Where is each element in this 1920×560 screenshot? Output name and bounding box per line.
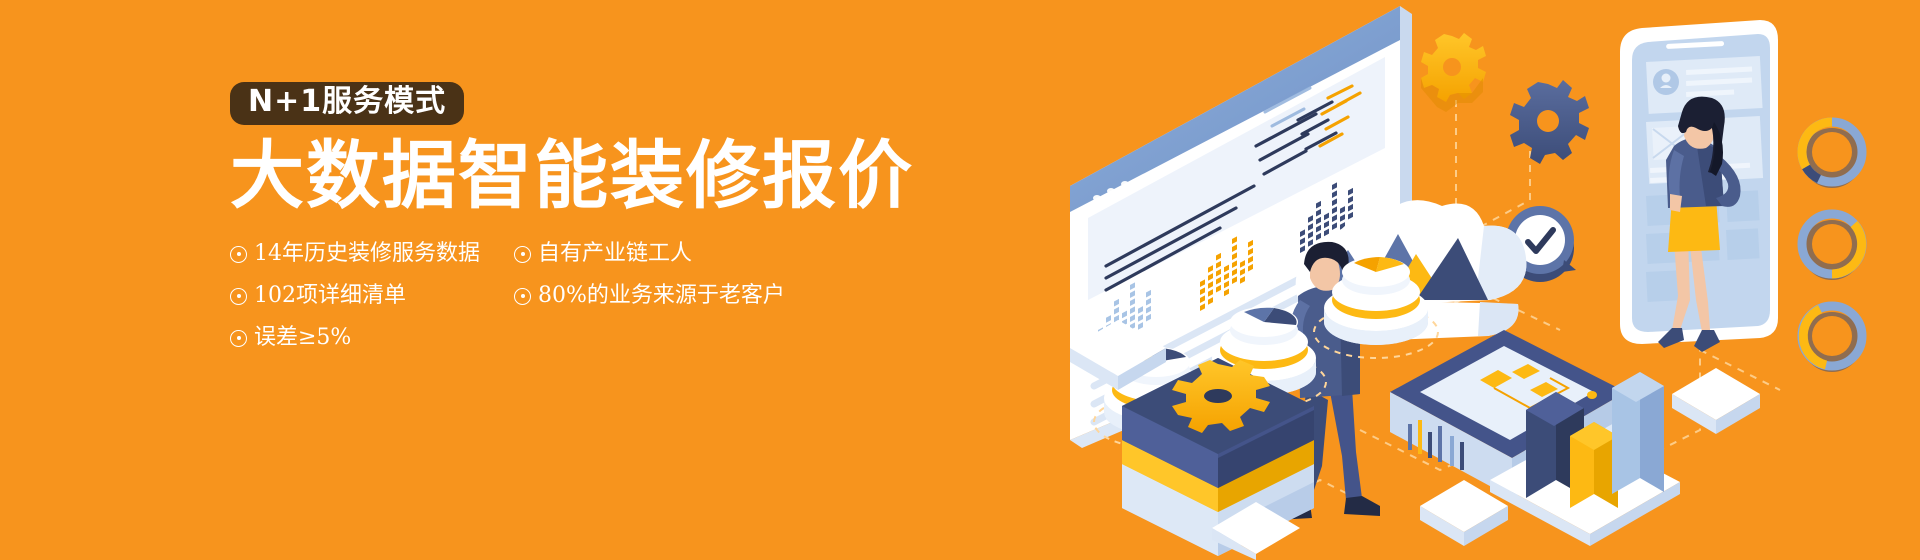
list-item: 102项详细清单 [230, 285, 480, 307]
circled-dot-icon [514, 246, 531, 263]
ring-charts [1802, 122, 1862, 372]
feature-column-right: 自有产业链工人 80%的业务来源于老客户 [514, 243, 785, 369]
bar-3 [1612, 372, 1664, 494]
list-item: 14年历史装修服务数据 [230, 243, 480, 265]
list-item-label: 80%的业务来源于老客户 [538, 285, 785, 307]
circled-dot-icon [230, 246, 247, 263]
page-title: 大数据智能装修报价 [230, 139, 950, 213]
service-mode-badge: N+1服务模式 [230, 82, 464, 125]
feature-list: 14年历史装修服务数据 102项详细清单 误差≥5% 自有产业链工人 [230, 243, 950, 369]
list-item: 80%的业务来源于老客户 [514, 285, 785, 307]
circled-dot-icon [230, 288, 247, 305]
list-item: 误差≥5% [230, 327, 480, 349]
copy-block: N+1服务模式 大数据智能装修报价 14年历史装修服务数据 102项详细清单 误… [230, 82, 950, 369]
gear-navy [1510, 80, 1589, 175]
circled-dot-icon [230, 330, 247, 347]
circled-dot-icon [514, 288, 531, 305]
promo-banner: N+1服务模式 大数据智能装修报价 14年历史装修服务数据 102项详细清单 误… [0, 0, 1920, 560]
list-item-label: 误差≥5% [254, 327, 351, 349]
list-item-label: 14年历史装修服务数据 [254, 243, 480, 265]
isometric-illustration [1060, 0, 1920, 560]
feature-column-left: 14年历史装修服务数据 102项详细清单 误差≥5% [230, 243, 480, 369]
list-item-label: 102项详细清单 [254, 285, 406, 307]
gear-yellow [1421, 33, 1486, 112]
floating-tile [1672, 368, 1760, 434]
list-item: 自有产业链工人 [514, 243, 785, 265]
list-item-label: 自有产业链工人 [538, 243, 692, 265]
